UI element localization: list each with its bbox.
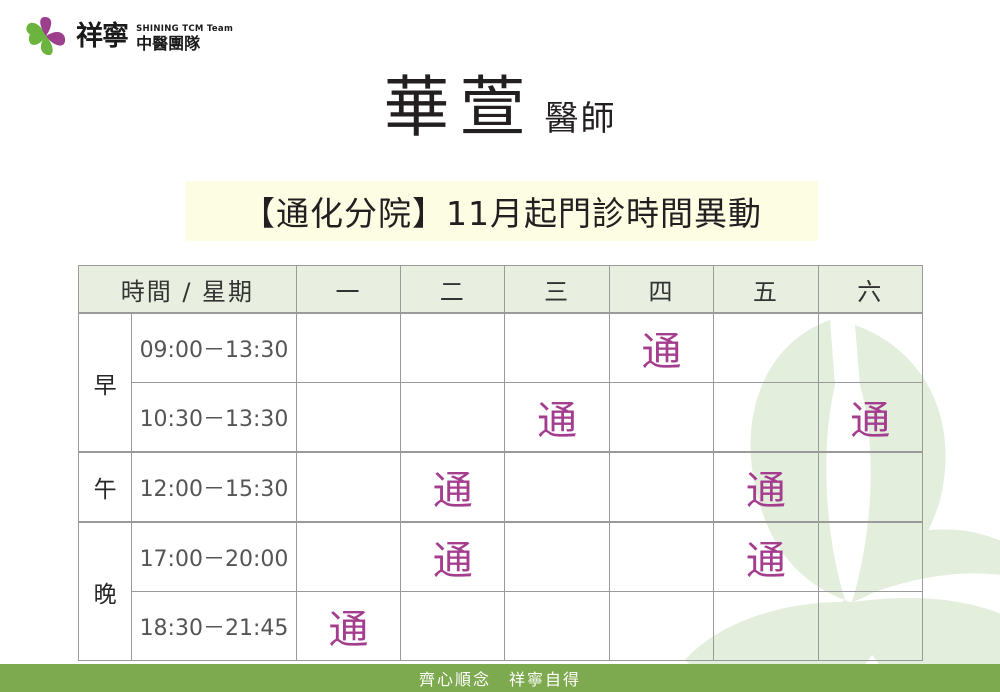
header-day-5: 五 [714, 266, 818, 314]
period-label: 晚 [79, 522, 132, 661]
header-day-4: 四 [609, 266, 713, 314]
brand-side-text: SHINING TCM Team 中醫團隊 [136, 22, 233, 53]
clinic-slot-empty [401, 592, 505, 661]
clinic-slot-empty [818, 592, 922, 661]
flower-logo-icon [24, 14, 70, 60]
clinic-slot-marked: 通 [818, 383, 922, 453]
header-time-week: 時間 / 星期 [79, 266, 297, 314]
announcement-text: 【通化分院】11月起門診時間異動 [242, 187, 762, 235]
time-range: 10:30－13:30 [132, 383, 297, 453]
clinic-slot-empty [401, 313, 505, 383]
clinic-slot-marked: 通 [505, 383, 609, 453]
clinic-slot-marked: 通 [296, 592, 400, 661]
footer-slogan: 齊心順念 祥寧自得 [419, 666, 581, 690]
header-day-1: 一 [296, 266, 400, 314]
clinic-slot-marked: 通 [714, 522, 818, 592]
header-day-2: 二 [401, 266, 505, 314]
clinic-slot-empty [609, 383, 713, 453]
clinic-slot-empty [296, 522, 400, 592]
footer-bar: 齊心順念 祥寧自得 [0, 664, 1000, 692]
clinic-slot-empty [609, 522, 713, 592]
time-range: 17:00－20:00 [132, 522, 297, 592]
schedule-row: 18:30－21:45通 [79, 592, 923, 661]
schedule-row: 午12:00－15:30通通 [79, 452, 923, 522]
brand-subtitle-cn: 中醫團隊 [136, 35, 233, 53]
schedule-header-row: 時間 / 星期一二三四五六 [79, 266, 923, 314]
clinic-slot-empty [609, 592, 713, 661]
header-day-3: 三 [505, 266, 609, 314]
clinic-slot-marked: 通 [401, 452, 505, 522]
page-title: 華萱 醫師 [0, 68, 1000, 148]
brand-name-cn: 祥寧 [76, 14, 128, 60]
time-range: 09:00－13:30 [132, 313, 297, 383]
clinic-slot-marked: 通 [609, 313, 713, 383]
schedule-table-wrap: 時間 / 星期一二三四五六早09:00－13:30通10:30－13:30通通午… [78, 265, 923, 661]
clinic-slot-empty [505, 313, 609, 383]
clinic-slot-empty [296, 313, 400, 383]
brand-wordmark: 祥寧 SHINING TCM Team 中醫團隊 [76, 14, 233, 60]
doctor-title-suffix: 醫師 [545, 91, 617, 140]
clinic-slot-empty [296, 452, 400, 522]
clinic-slot-empty [609, 452, 713, 522]
clinic-slot-empty [818, 522, 922, 592]
schedule-table: 時間 / 星期一二三四五六早09:00－13:30通10:30－13:30通通午… [78, 265, 923, 661]
clinic-slot-empty [505, 452, 609, 522]
clinic-slot-empty [714, 383, 818, 453]
clinic-slot-empty [505, 592, 609, 661]
header-day-6: 六 [818, 266, 922, 314]
period-label: 早 [79, 313, 132, 452]
clinic-slot-empty [818, 452, 922, 522]
clinic-slot-marked: 通 [401, 522, 505, 592]
brand-name-en: SHINING TCM Team [136, 24, 233, 35]
clinic-slot-empty [401, 383, 505, 453]
schedule-row: 10:30－13:30通通 [79, 383, 923, 453]
schedule-row: 晚17:00－20:00通通 [79, 522, 923, 592]
slide-page: 祥寧 SHINING TCM Team 中醫團隊 華萱 醫師 【通化分院】11月… [0, 0, 1000, 692]
clinic-slot-empty [818, 313, 922, 383]
clinic-slot-empty [505, 522, 609, 592]
period-label: 午 [79, 452, 132, 522]
clinic-slot-marked: 通 [714, 452, 818, 522]
clinic-slot-empty [714, 313, 818, 383]
clinic-slot-empty [714, 592, 818, 661]
brand-logo: 祥寧 SHINING TCM Team 中醫團隊 [24, 14, 233, 60]
doctor-name: 華萱 [383, 68, 535, 148]
time-range: 18:30－21:45 [132, 592, 297, 661]
time-range: 12:00－15:30 [132, 452, 297, 522]
clinic-slot-empty [296, 383, 400, 453]
schedule-row: 早09:00－13:30通 [79, 313, 923, 383]
announcement-banner: 【通化分院】11月起門診時間異動 [186, 181, 818, 241]
